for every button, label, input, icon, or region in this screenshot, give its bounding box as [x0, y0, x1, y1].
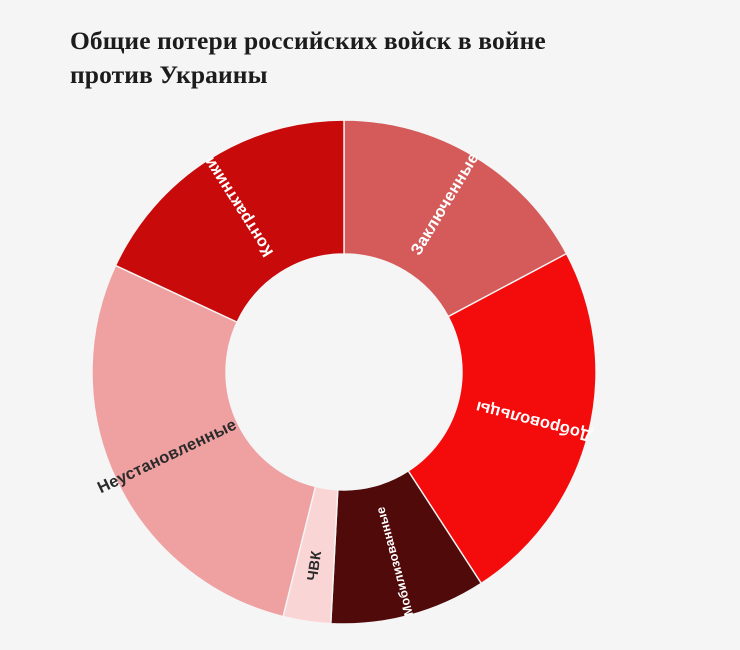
chart-figure: Общие потери российских войск в войне пр… [0, 0, 740, 650]
donut-slices [92, 120, 596, 624]
donut-chart: ЗаключенныеДобровольцыМобилизованныеЧВКН… [0, 0, 740, 650]
